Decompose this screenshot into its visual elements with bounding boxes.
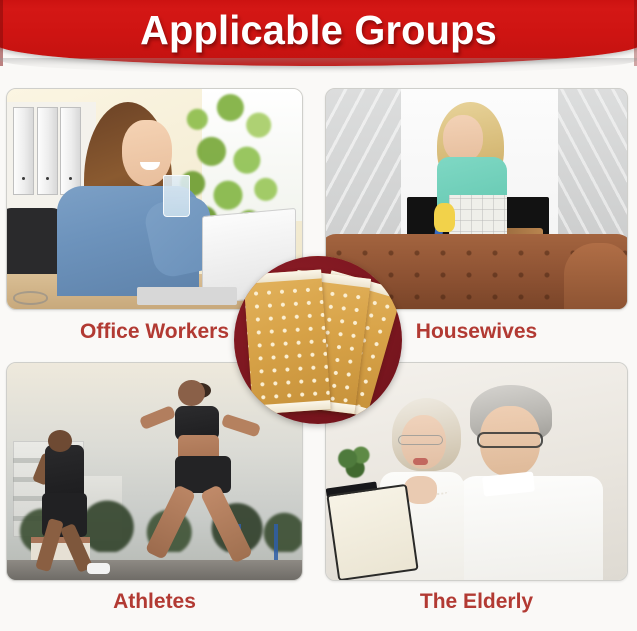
tablet-device xyxy=(326,484,419,580)
caption-athletes: Athletes xyxy=(6,588,303,616)
product-badge[interactable] xyxy=(234,256,402,424)
elderly-man-glasses xyxy=(477,432,543,447)
male-runner-head xyxy=(48,430,72,452)
male-runner-shoe xyxy=(87,563,111,574)
banner-left-edge xyxy=(0,0,3,66)
caption-the-elderly: The Elderly xyxy=(325,588,628,616)
elderly-woman-hand xyxy=(404,476,437,504)
laptop-keyboard xyxy=(137,287,237,305)
binder-icon xyxy=(60,107,81,195)
female-runner-head xyxy=(178,380,205,406)
elderly-woman-glasses xyxy=(398,435,443,446)
elderly-man-shirt xyxy=(458,476,602,580)
patch-perforations xyxy=(244,278,330,405)
pain-relief-patch xyxy=(243,269,331,414)
binder-icon xyxy=(37,107,58,195)
elderly-woman-lips xyxy=(413,458,428,465)
page-title: Applicable Groups xyxy=(10,4,628,56)
housewife-face xyxy=(443,115,482,161)
house-plant xyxy=(335,441,377,484)
infographic-page: Applicable Groups Office Workers xyxy=(0,0,637,631)
banner-drop-shadow xyxy=(0,58,637,74)
binder-icon xyxy=(13,107,34,195)
header-banner: Applicable Groups xyxy=(0,0,637,74)
yellow-glove-upper xyxy=(434,203,455,232)
eyeglasses-on-desk xyxy=(13,291,48,304)
water-glass xyxy=(163,175,190,217)
sofa-armrest xyxy=(564,243,627,309)
